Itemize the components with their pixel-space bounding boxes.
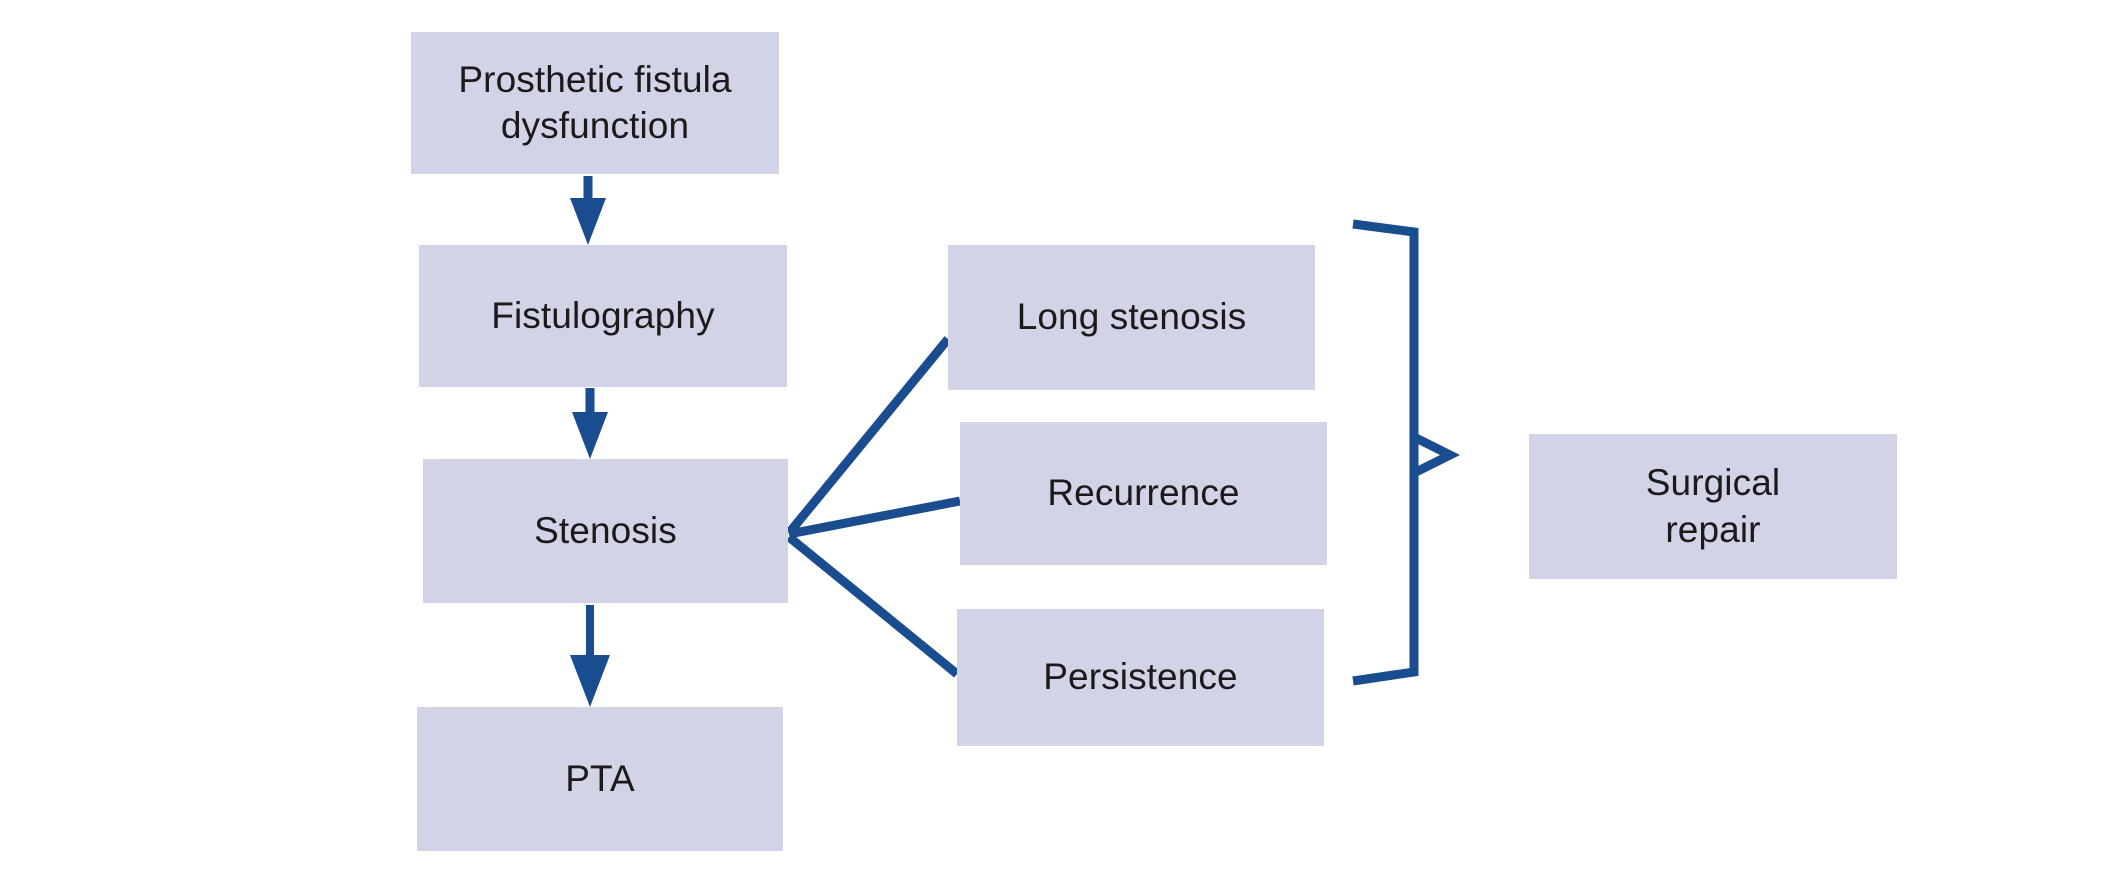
node-label: Surgical repair: [1646, 460, 1780, 553]
brace-outcomes-to-surgical-repair: [1353, 224, 1450, 681]
node-label: Prosthetic fistula dysfunction: [458, 57, 731, 150]
node-fistulography: Fistulography: [419, 245, 787, 387]
node-prosthetic-fistula-dysfunction: Prosthetic fistula dysfunction: [411, 32, 779, 174]
flowchart-canvas: Prosthetic fistula dysfunction Fistulogr…: [0, 0, 2117, 873]
fan-line-long-stenosis: [789, 339, 948, 533]
node-persistence: Persistence: [957, 609, 1324, 746]
node-label: Stenosis: [534, 508, 677, 554]
node-long-stenosis: Long stenosis: [948, 245, 1315, 390]
node-label: Long stenosis: [1017, 294, 1247, 340]
arrow-fistulography-to-stenosis: [572, 388, 608, 459]
node-pta: PTA: [417, 707, 783, 851]
node-label: Recurrence: [1047, 470, 1239, 516]
node-surgical-repair: Surgical repair: [1529, 434, 1897, 579]
node-recurrence: Recurrence: [960, 422, 1327, 565]
node-label: Persistence: [1043, 654, 1237, 700]
fan-stenosis-to-outcomes: [789, 339, 960, 674]
node-stenosis: Stenosis: [423, 459, 788, 603]
node-label: Fistulography: [491, 293, 714, 339]
node-label: PTA: [565, 756, 635, 802]
arrow-dysfunction-to-fistulography: [570, 176, 606, 245]
arrow-stenosis-to-pta: [570, 605, 610, 707]
fan-line-persistence: [789, 537, 957, 674]
fan-line-recurrence: [789, 501, 960, 534]
